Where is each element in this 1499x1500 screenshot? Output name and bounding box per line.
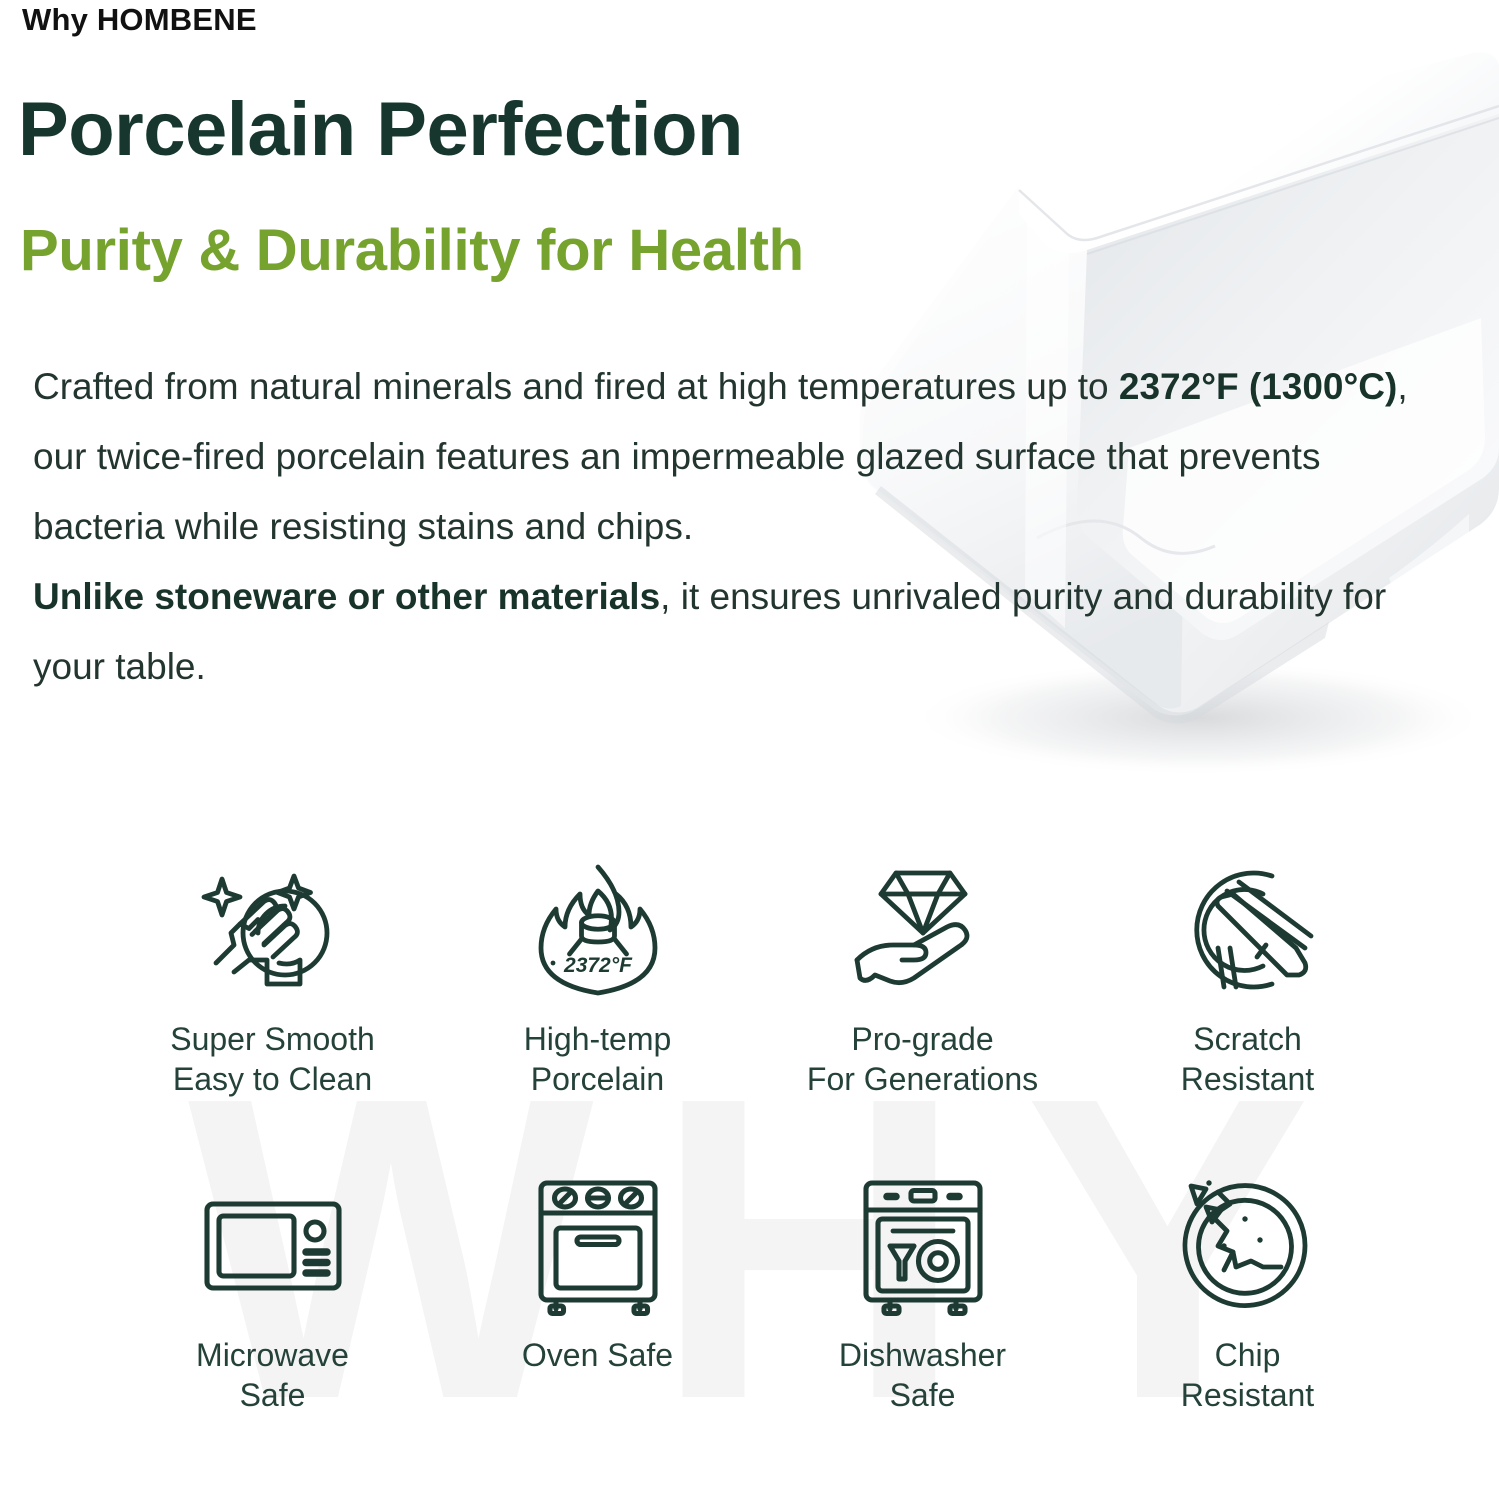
microwave-icon [198,1161,348,1331]
feature-label: Chip Resistant [1181,1335,1314,1415]
knife-scratching-plate-icon [1173,845,1323,1015]
comparison-highlight: Unlike stoneware or other materials [33,576,660,617]
dishwasher-icon [848,1161,998,1331]
paragraph1-text-a: Crafted from natural minerals and fired … [33,366,1119,407]
body-paragraph-2: Unlike stoneware or other materials, it … [33,562,1423,702]
feature-item-dishwasher-safe: Dishwasher Safe [760,1161,1085,1415]
cracked-plate-chip-icon [1173,1161,1323,1331]
feature-label: Dishwasher Safe [839,1335,1006,1415]
feature-item-high-temp: 2372°F High-temp Porcelain [435,845,760,1099]
feature-label: Oven Safe [522,1335,673,1375]
feature-item-pro-grade: Pro-grade For Generations [760,845,1085,1099]
hand-wiping-plate-sparkle-icon [198,845,348,1015]
feature-item-super-smooth: Super Smooth Easy to Clean [110,845,435,1099]
feature-grid: Super Smooth Easy to Clean 2372°F High-t… [110,845,1410,1415]
svg-text:2372°F: 2372°F [563,954,633,977]
feature-label: Pro-grade For Generations [807,1019,1038,1099]
feature-item-microwave-safe: Microwave Safe [110,1161,435,1415]
temperature-highlight: 2372°F (1300°C) [1119,366,1397,407]
page-title: Porcelain Perfection [18,92,743,168]
body-copy: Crafted from natural minerals and fired … [33,352,1423,702]
infographic-page: WHY [0,0,1499,1500]
page-subtitle: Purity & Durability for Health [20,222,804,280]
feature-item-chip-resistant: Chip Resistant [1085,1161,1410,1415]
feature-item-scratch-resistant: Scratch Resistant [1085,845,1410,1099]
feature-label: Microwave Safe [196,1335,349,1415]
body-paragraph-1: Crafted from natural minerals and fired … [33,352,1423,562]
feature-item-oven-safe: Oven Safe [435,1161,760,1415]
feature-label: Super Smooth Easy to Clean [170,1019,375,1099]
diamond-in-hand-icon [848,845,998,1015]
brand-eyebrow: Why HOMBENE [22,2,257,38]
feature-label: Scratch Resistant [1181,1019,1314,1099]
oven-range-icon [523,1161,673,1331]
feature-label: High-temp Porcelain [524,1019,672,1099]
flame-temperature-icon: 2372°F [523,845,673,1015]
